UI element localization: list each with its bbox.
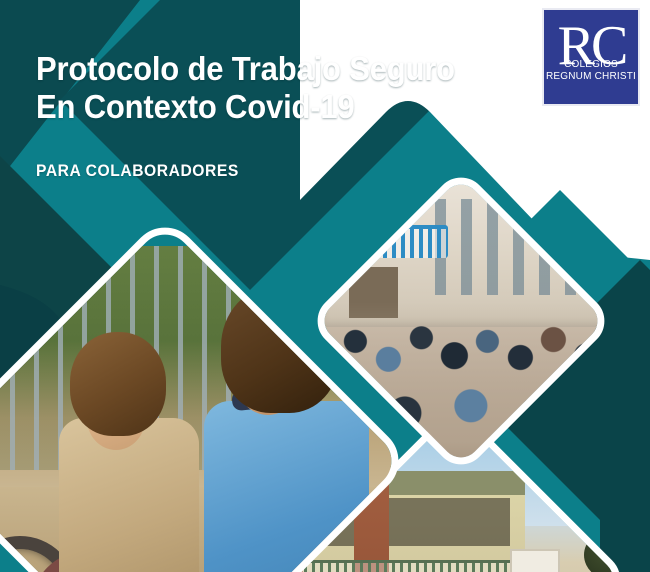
balcony-railing: [278, 560, 521, 572]
logo-org-line-1: COLEGIOS: [544, 59, 638, 71]
page-title-line-1: Protocolo de Trabajo Seguro: [36, 50, 478, 88]
headline-block: Protocolo de Trabajo Seguro En Contexto …: [36, 50, 506, 181]
page-title-line-2: En Contexto Covid-19: [36, 88, 478, 126]
boy-khaki-hair: [70, 332, 166, 436]
cover-page: Protocolo de Trabajo Seguro En Contexto …: [0, 0, 650, 572]
basketball-backboard: [510, 549, 561, 572]
logo-org-line-2: REGNUM CHRISTI: [544, 71, 638, 83]
logo-regnum-christi: RC COLEGIOS REGNUM CHRISTI: [542, 8, 640, 106]
page-subtitle: PARA COLABORADORES: [36, 161, 468, 181]
bg-right-dark-block: [600, 330, 650, 572]
logo-organization-name: COLEGIOS REGNUM CHRISTI: [544, 59, 638, 82]
